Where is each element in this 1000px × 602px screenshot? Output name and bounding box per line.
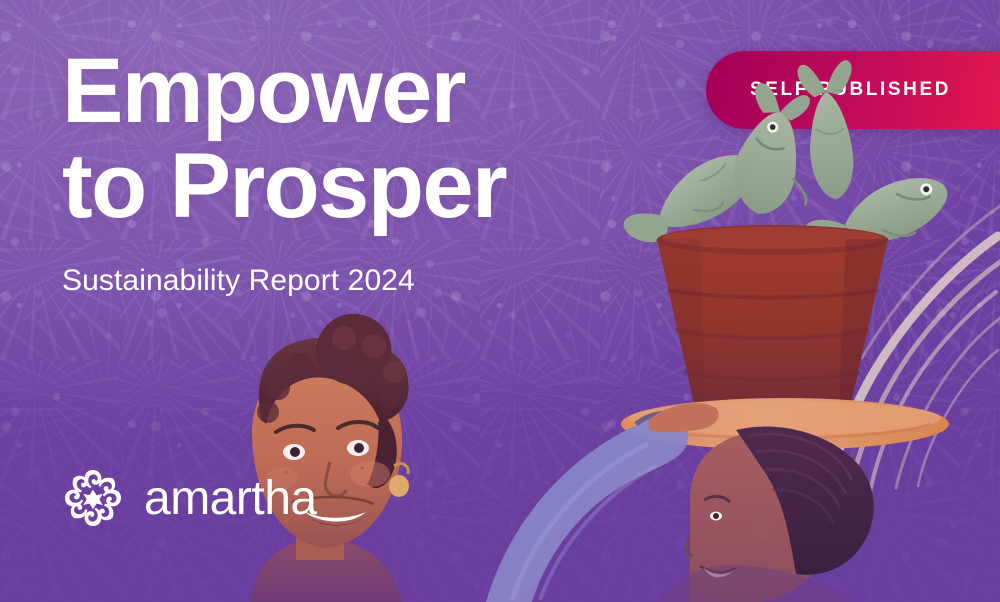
fish-icon xyxy=(797,60,865,202)
headline-line-1: Empower xyxy=(62,40,465,142)
cover-text-block: Empower to Prosper Sustainability Report… xyxy=(62,44,506,298)
smiling-woman-portrait xyxy=(250,314,409,602)
page-title: Empower to Prosper xyxy=(62,44,506,234)
headline-line-2: to Prosper xyxy=(62,139,506,234)
amartha-wordmark: amartha xyxy=(144,471,317,526)
amartha-logo: amartha xyxy=(58,463,317,533)
amartha-mandala-icon xyxy=(58,463,128,533)
page-subtitle: Sustainability Report 2024 xyxy=(62,264,506,298)
report-cover: SELF-PUBLISHED Empower to Prosper Sustai… xyxy=(0,0,1000,602)
